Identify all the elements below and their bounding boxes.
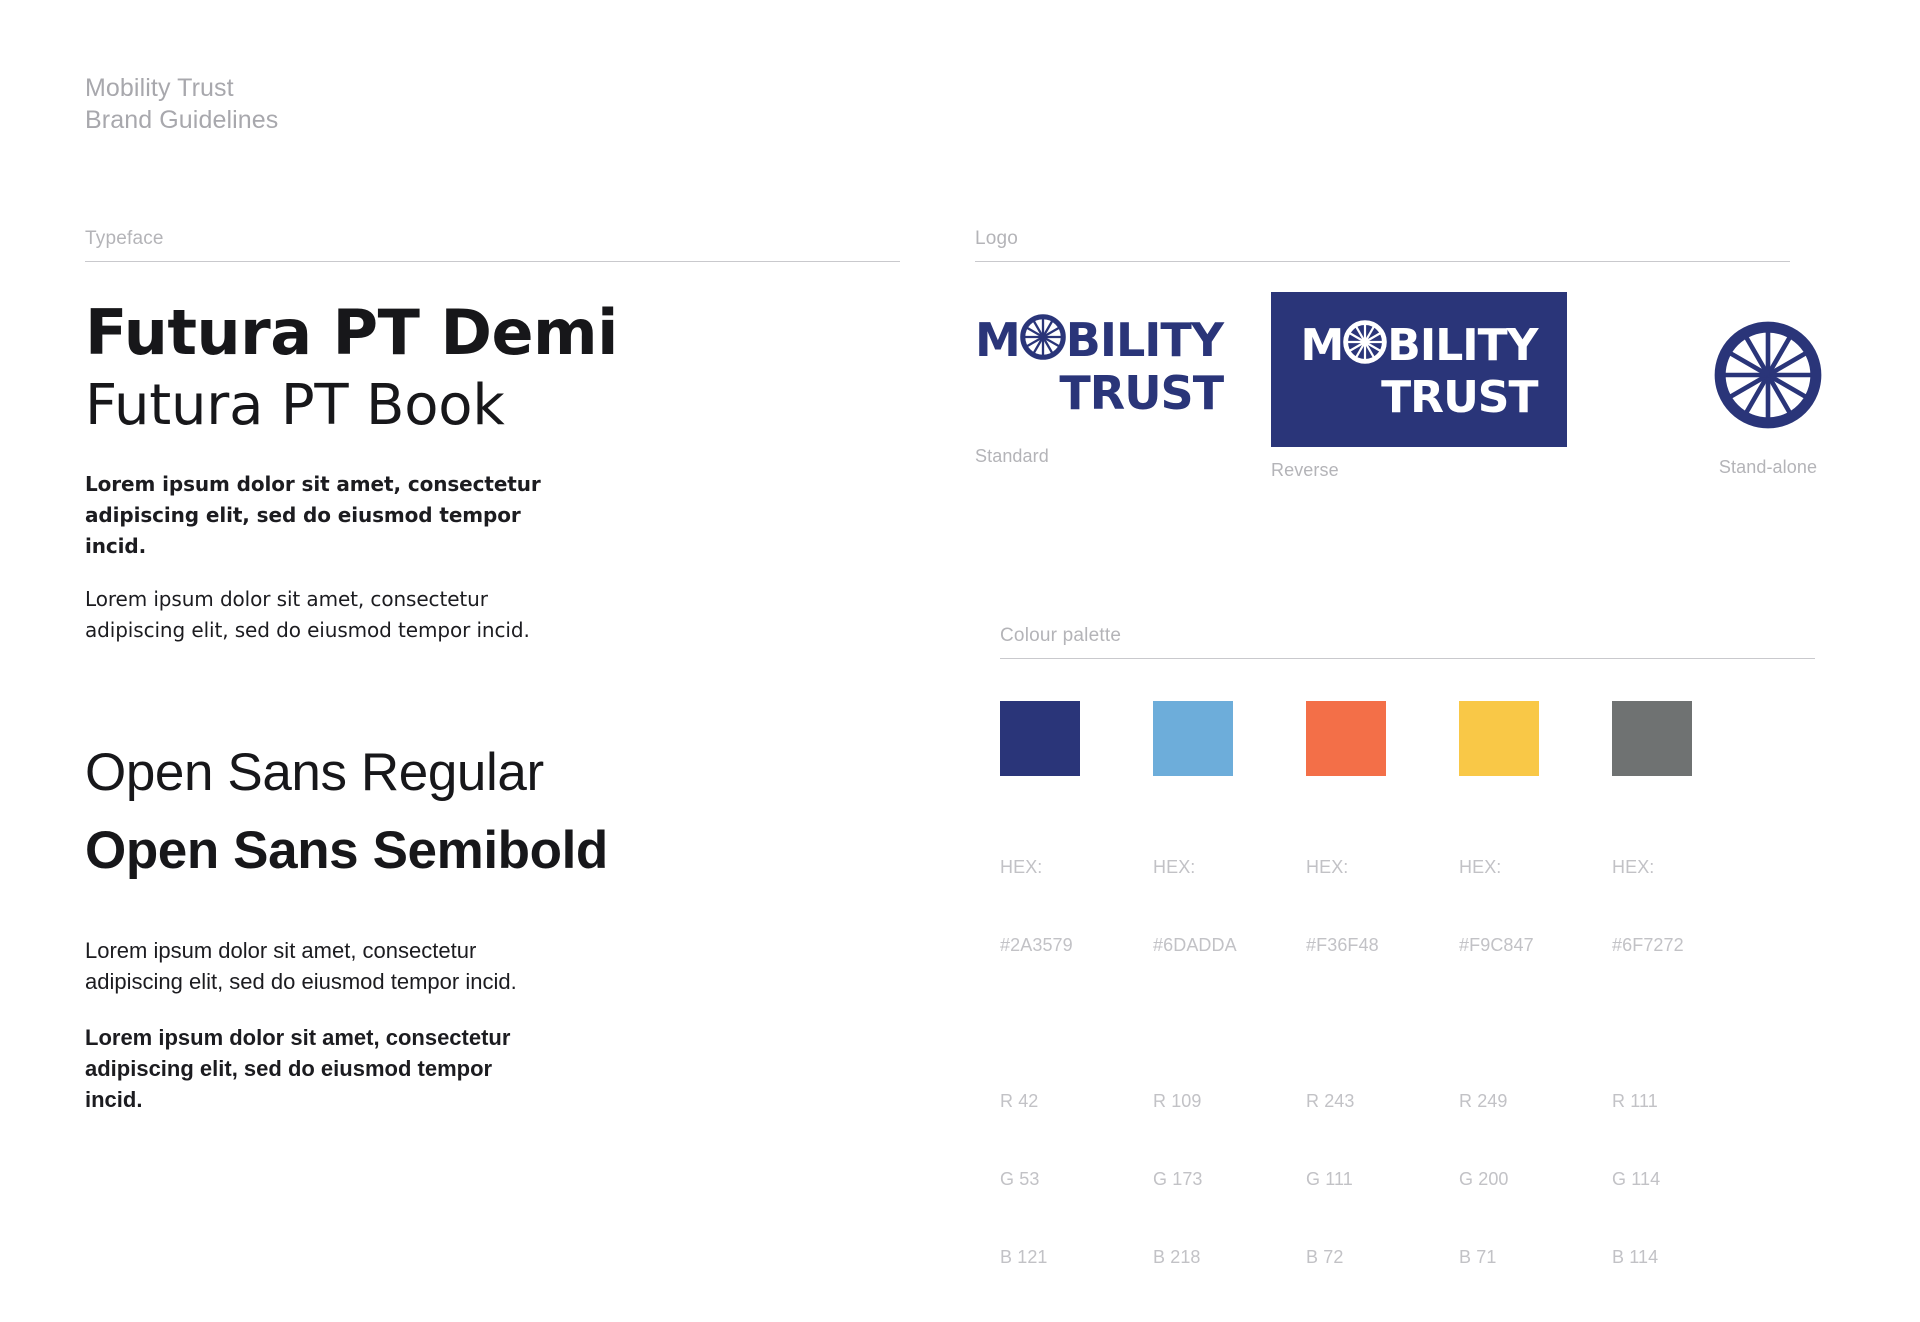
typeface-section-divider (85, 261, 900, 262)
futura-sample-regular: Lorem ipsum dolor sit amet, consectetur … (85, 584, 577, 646)
wheel-icon-standalone (1713, 320, 1823, 435)
logo-caption-standard: Standard (975, 446, 1223, 467)
colour-g-value: G 53 (1000, 1166, 1128, 1192)
logo-section: Logo M (975, 228, 1790, 544)
opensans-regular-specimen: Open Sans Regular (85, 734, 900, 812)
colour-hex-label: HEX: (1459, 854, 1587, 880)
logo-word-mobility-pre-reverse: M (1301, 324, 1344, 367)
logo-lockup-reverse: M (1301, 320, 1538, 418)
wheel-icon (1020, 314, 1066, 367)
colour-chip (1612, 701, 1692, 776)
logo-variant-standard: M (975, 314, 1223, 467)
document-title: Mobility Trust Brand Guidelines (85, 72, 278, 136)
logo-word-mobility-pre: M (975, 318, 1020, 363)
colour-g-value: G 111 (1306, 1166, 1434, 1192)
colour-b-value: B 121 (1000, 1244, 1128, 1270)
colour-r-value: R 249 (1459, 1088, 1587, 1114)
colour-palette-section-divider (1000, 658, 1815, 659)
logo-caption-reverse: Reverse (1271, 460, 1567, 481)
logo-variants-row: M (975, 314, 1790, 544)
logo-word-mobility-post-reverse: BILITY (1387, 324, 1537, 367)
colour-chip (1000, 701, 1080, 776)
futura-book-specimen: Futura PT Book (85, 370, 900, 442)
colour-hex-label: HEX: (1000, 854, 1128, 880)
opensans-semibold-specimen: Open Sans Semibold (85, 812, 900, 890)
colour-swatch: HEX: #6F7272 R 111 G 114 B 114 (1612, 701, 1740, 1322)
logo-word-trust: TRUST (1059, 371, 1223, 416)
document-title-line-1: Mobility Trust (85, 72, 278, 104)
colour-hex-value: #6F7272 (1612, 932, 1740, 958)
colour-g-value: G 114 (1612, 1166, 1740, 1192)
colour-hex-label: HEX: (1612, 854, 1740, 880)
colour-hex-label: HEX: (1306, 854, 1434, 880)
wheel-icon-reverse (1343, 320, 1387, 371)
colour-r-value: R 243 (1306, 1088, 1434, 1114)
colour-chip (1459, 701, 1539, 776)
logo-variant-reverse: M (1271, 292, 1567, 481)
colour-palette-section-label: Colour palette (1000, 625, 1815, 658)
colour-chip (1153, 701, 1233, 776)
futura-sample-bold: Lorem ipsum dolor sit amet, consectetur … (85, 469, 577, 562)
opensans-sample-bold: Lorem ipsum dolor sit amet, consectetur … (85, 1022, 555, 1115)
colour-hex-value: #F9C847 (1459, 932, 1587, 958)
colour-swatch: HEX: #2A3579 R 42 G 53 B 121 (1000, 701, 1128, 1322)
colour-swatch-row: HEX: #2A3579 R 42 G 53 B 121 HEX: #6DADD… (1000, 701, 1815, 1322)
colour-hex-label: HEX: (1153, 854, 1281, 880)
colour-b-value: B 218 (1153, 1244, 1281, 1270)
colour-chip (1306, 701, 1386, 776)
typeface-section-label: Typeface (85, 228, 900, 261)
logo-caption-standalone: Stand-alone (1620, 457, 1916, 478)
colour-hex-value: #6DADDA (1153, 932, 1281, 958)
futura-demi-specimen: Futura PT Demi (85, 296, 900, 370)
colour-r-value: R 111 (1612, 1088, 1740, 1114)
colour-g-value: G 200 (1459, 1166, 1587, 1192)
logo-lockup-standard: M (975, 314, 1223, 416)
logo-reverse-panel: M (1271, 292, 1567, 447)
colour-r-value: R 109 (1153, 1088, 1281, 1114)
typeface-section: Typeface Futura PT Demi Futura PT Book L… (85, 228, 900, 1115)
brand-guidelines-page: Mobility Trust Brand Guidelines Typeface… (0, 0, 1920, 1086)
colour-swatch: HEX: #F9C847 R 249 G 200 B 71 (1459, 701, 1587, 1322)
opensans-block: Open Sans Regular Open Sans Semibold Lor… (85, 734, 900, 1115)
colour-hex-value: #F36F48 (1306, 932, 1434, 958)
opensans-sample-regular: Lorem ipsum dolor sit amet, consectetur … (85, 935, 555, 997)
logo-section-label: Logo (975, 228, 1790, 261)
document-title-line-2: Brand Guidelines (85, 104, 278, 136)
logo-section-divider (975, 261, 1790, 262)
colour-palette-section: Colour palette HEX: #2A3579 R 42 G 53 B … (1000, 625, 1815, 1322)
logo-word-trust-reverse: TRUST (1381, 376, 1537, 419)
colour-swatch: HEX: #F36F48 R 243 G 111 B 72 (1306, 701, 1434, 1322)
colour-b-value: B 72 (1306, 1244, 1434, 1270)
colour-g-value: G 173 (1153, 1166, 1281, 1192)
colour-swatch: HEX: #6DADDA R 109 G 173 B 218 (1153, 701, 1281, 1322)
logo-word-mobility-post: BILITY (1066, 318, 1223, 363)
logo-variant-standalone: Stand-alone (1620, 320, 1916, 478)
colour-hex-value: #2A3579 (1000, 932, 1128, 958)
colour-r-value: R 42 (1000, 1088, 1128, 1114)
colour-b-value: B 71 (1459, 1244, 1587, 1270)
colour-b-value: B 114 (1612, 1244, 1740, 1270)
